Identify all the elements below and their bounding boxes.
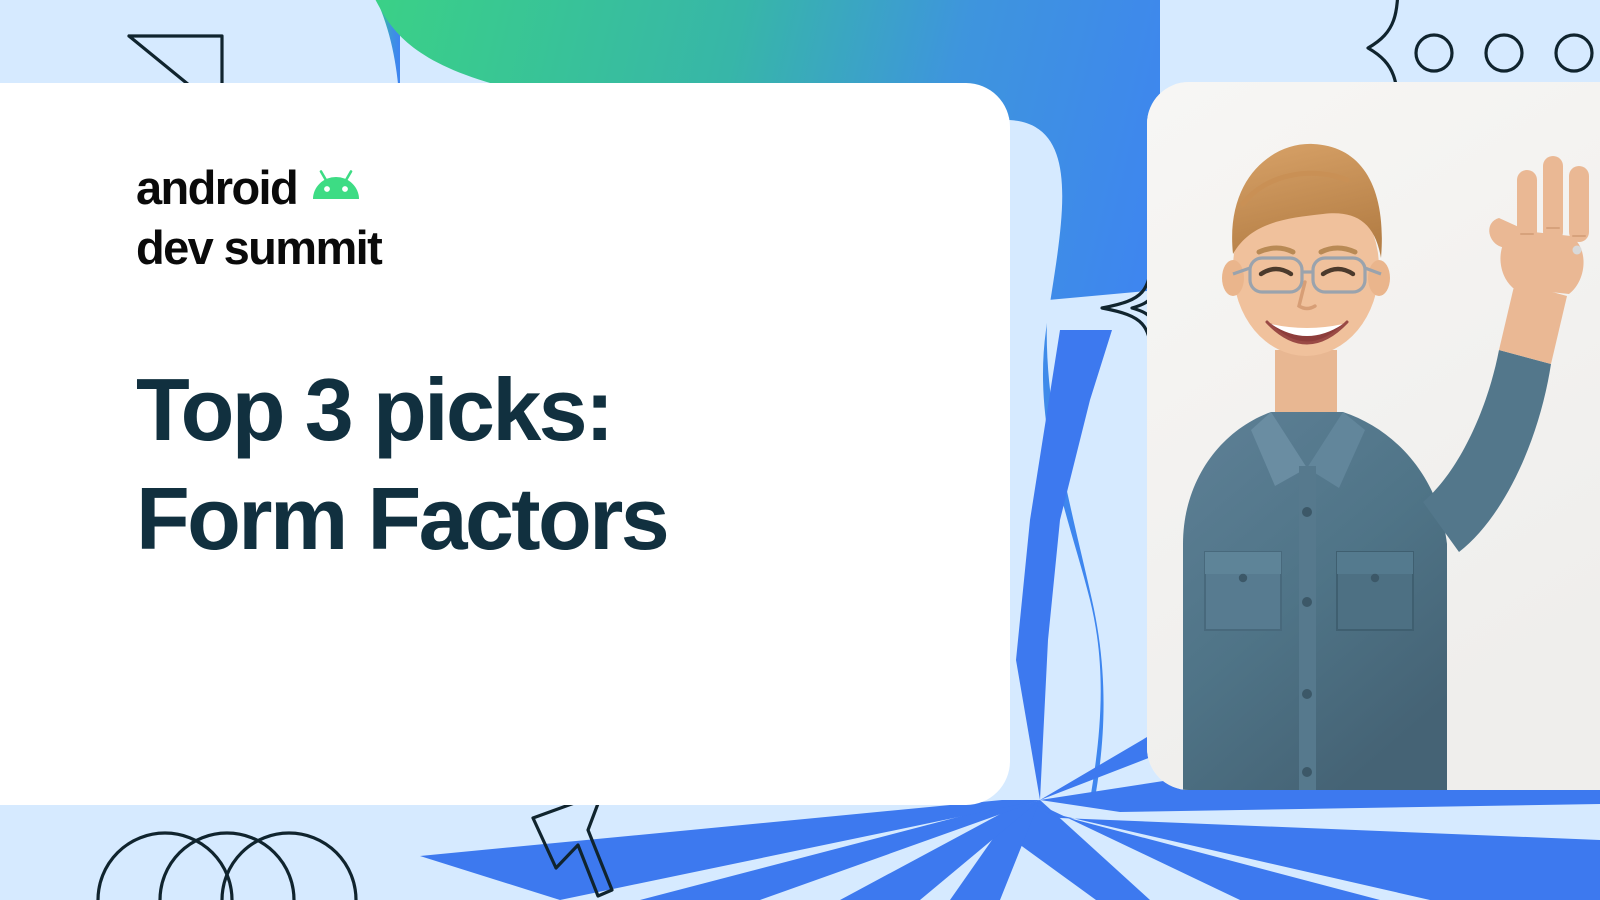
logo-text-dev-summit: dev summit	[136, 219, 381, 276]
logo-line-two: dev summit	[136, 219, 381, 276]
speaker-photo	[1147, 82, 1600, 790]
logo-text-android: android	[136, 159, 297, 216]
speaker-portrait-illustration	[1147, 82, 1600, 790]
slide-canvas: android dev summit Top 3 picks: Form Fac…	[0, 0, 1600, 900]
android-dev-summit-logo: android dev summit	[136, 155, 381, 277]
logo-line-one: android	[136, 155, 381, 219]
android-robot-icon	[311, 155, 361, 212]
slide-title: Top 3 picks: Form Factors	[136, 355, 667, 573]
